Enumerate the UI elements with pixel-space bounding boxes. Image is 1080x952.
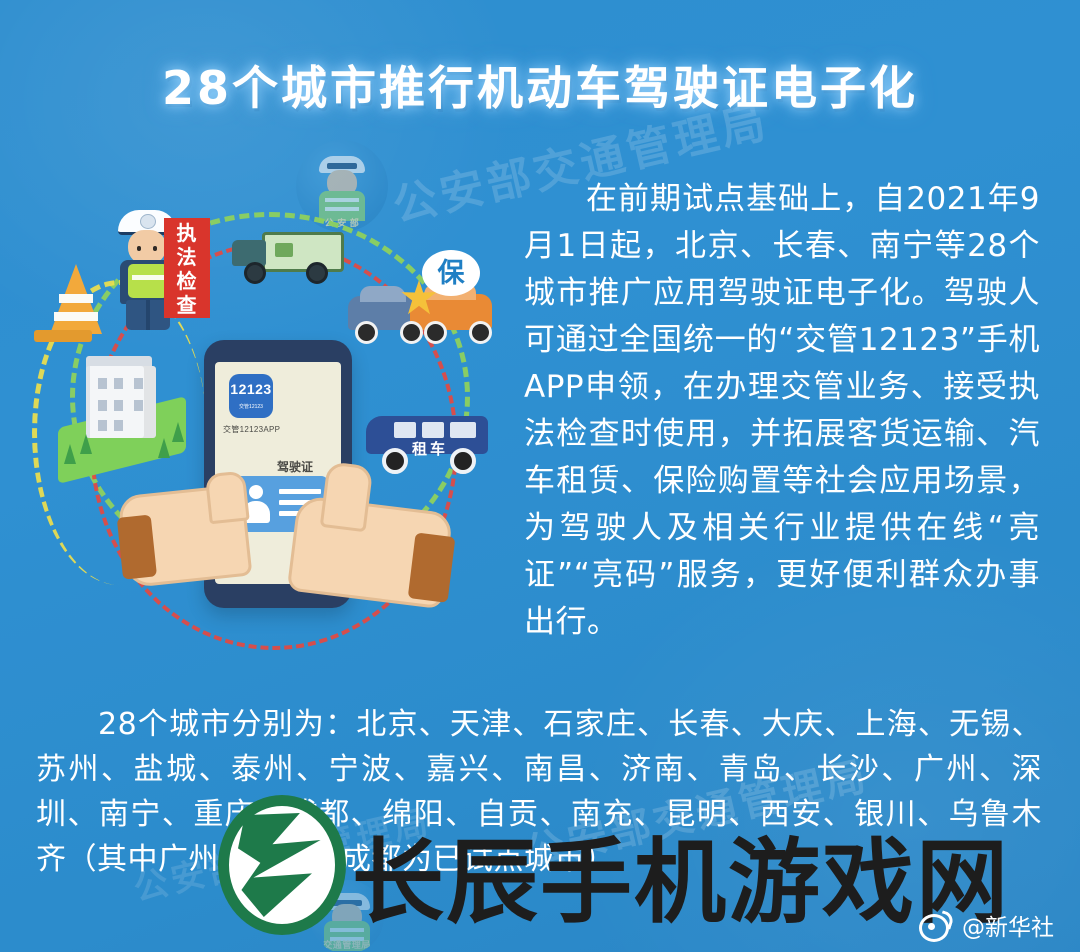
traffic-cone-icon: [50, 264, 102, 334]
tree-icon: [172, 422, 184, 442]
car-wheel: [424, 321, 447, 344]
left-hand-icon: [118, 484, 253, 589]
sign-char-1: 执: [164, 222, 210, 246]
building-window: [134, 378, 143, 389]
cone-base: [34, 330, 92, 342]
source-handle: @新华社: [962, 908, 1054, 942]
sleeve-cuff: [408, 532, 456, 602]
truck-wheel: [244, 262, 266, 284]
building-body: [86, 366, 156, 438]
tree-icon: [64, 444, 76, 464]
government-building-icon: [58, 360, 188, 470]
truck-cab: [232, 240, 266, 266]
app-icon-subtitle: 交管12123: [229, 404, 273, 410]
car-wheel: [469, 321, 492, 344]
sleeve-cuff: [117, 514, 157, 579]
weibo-icon: [919, 912, 953, 938]
license-title: 驾驶证: [277, 458, 313, 475]
app-label: 交管12123APP: [223, 424, 280, 435]
page-title: 28个城市推行机动车驾驶证电子化: [0, 52, 1080, 118]
van-label: 租车: [412, 438, 448, 459]
officer-head: [128, 230, 166, 264]
car-wheel: [355, 321, 378, 344]
building-window: [98, 420, 107, 431]
app-icon-name: 12123: [230, 381, 271, 397]
van-wheel: [382, 448, 408, 474]
rental-van-icon: 租车: [366, 410, 490, 468]
car-wheel: [400, 321, 423, 344]
main-paragraph: 在前期试点基础上，自2021年9月1日起，北京、长春、南宁等28个城市推广应用驾…: [524, 176, 1040, 646]
cities-paragraph: 28个城市分别为：北京、天津、石家庄、长春、大庆、上海、无锡、苏州、盐城、泰州、…: [36, 702, 1042, 882]
officer-vest: [128, 264, 168, 298]
building-window: [114, 378, 123, 389]
index-finger: [205, 470, 250, 524]
infographic-poster: 公安部交通管理局 公安部交通管理局 公安部交通管理局 公 安 部 交通管理局 2…: [0, 0, 1080, 952]
officer-eye: [153, 246, 157, 251]
building-window: [98, 378, 107, 389]
sign-char-2: 法: [164, 246, 210, 270]
cone-stripe: [54, 312, 98, 321]
tree-icon: [158, 438, 170, 458]
van-wheel: [450, 448, 476, 474]
building-window: [98, 400, 107, 411]
weibo-eye-tail: [938, 910, 955, 929]
index-finger: [320, 461, 374, 532]
badge-label: 交通管理局: [310, 940, 384, 950]
truck-cargo-box: [262, 232, 344, 272]
building-window: [134, 400, 143, 411]
source-attribution: @新华社: [919, 908, 1054, 942]
truck-wheel: [306, 262, 328, 284]
van-window: [422, 422, 444, 438]
license-info-line: [279, 489, 321, 494]
enforcement-check-sign: 执 法 检 查: [164, 218, 210, 318]
building-window: [114, 420, 123, 431]
sign-char-4: 查: [164, 294, 210, 318]
car-crash-icon: 保: [348, 272, 488, 346]
badge-cap: [324, 893, 370, 910]
officer-eye: [137, 246, 141, 251]
badge-body: [324, 921, 370, 951]
van-window: [394, 422, 416, 438]
van-window: [450, 422, 476, 438]
building-window: [114, 400, 123, 411]
app-icon-12123: 12123 交管12123: [229, 374, 273, 418]
insurance-badge: 保: [422, 250, 480, 296]
cone-stripe: [59, 294, 93, 303]
avatar-head: [249, 485, 263, 499]
sign-char-3: 检: [164, 270, 210, 294]
badge-face: [332, 904, 362, 930]
traffic-police-badge-icon-secondary: 交通管理局: [310, 880, 384, 952]
cargo-truck-icon: [232, 232, 340, 288]
right-hand-icon: [287, 495, 454, 609]
tree-icon: [80, 434, 92, 454]
illustration-stage: 执 法 检 查 保 租车: [36, 160, 526, 660]
